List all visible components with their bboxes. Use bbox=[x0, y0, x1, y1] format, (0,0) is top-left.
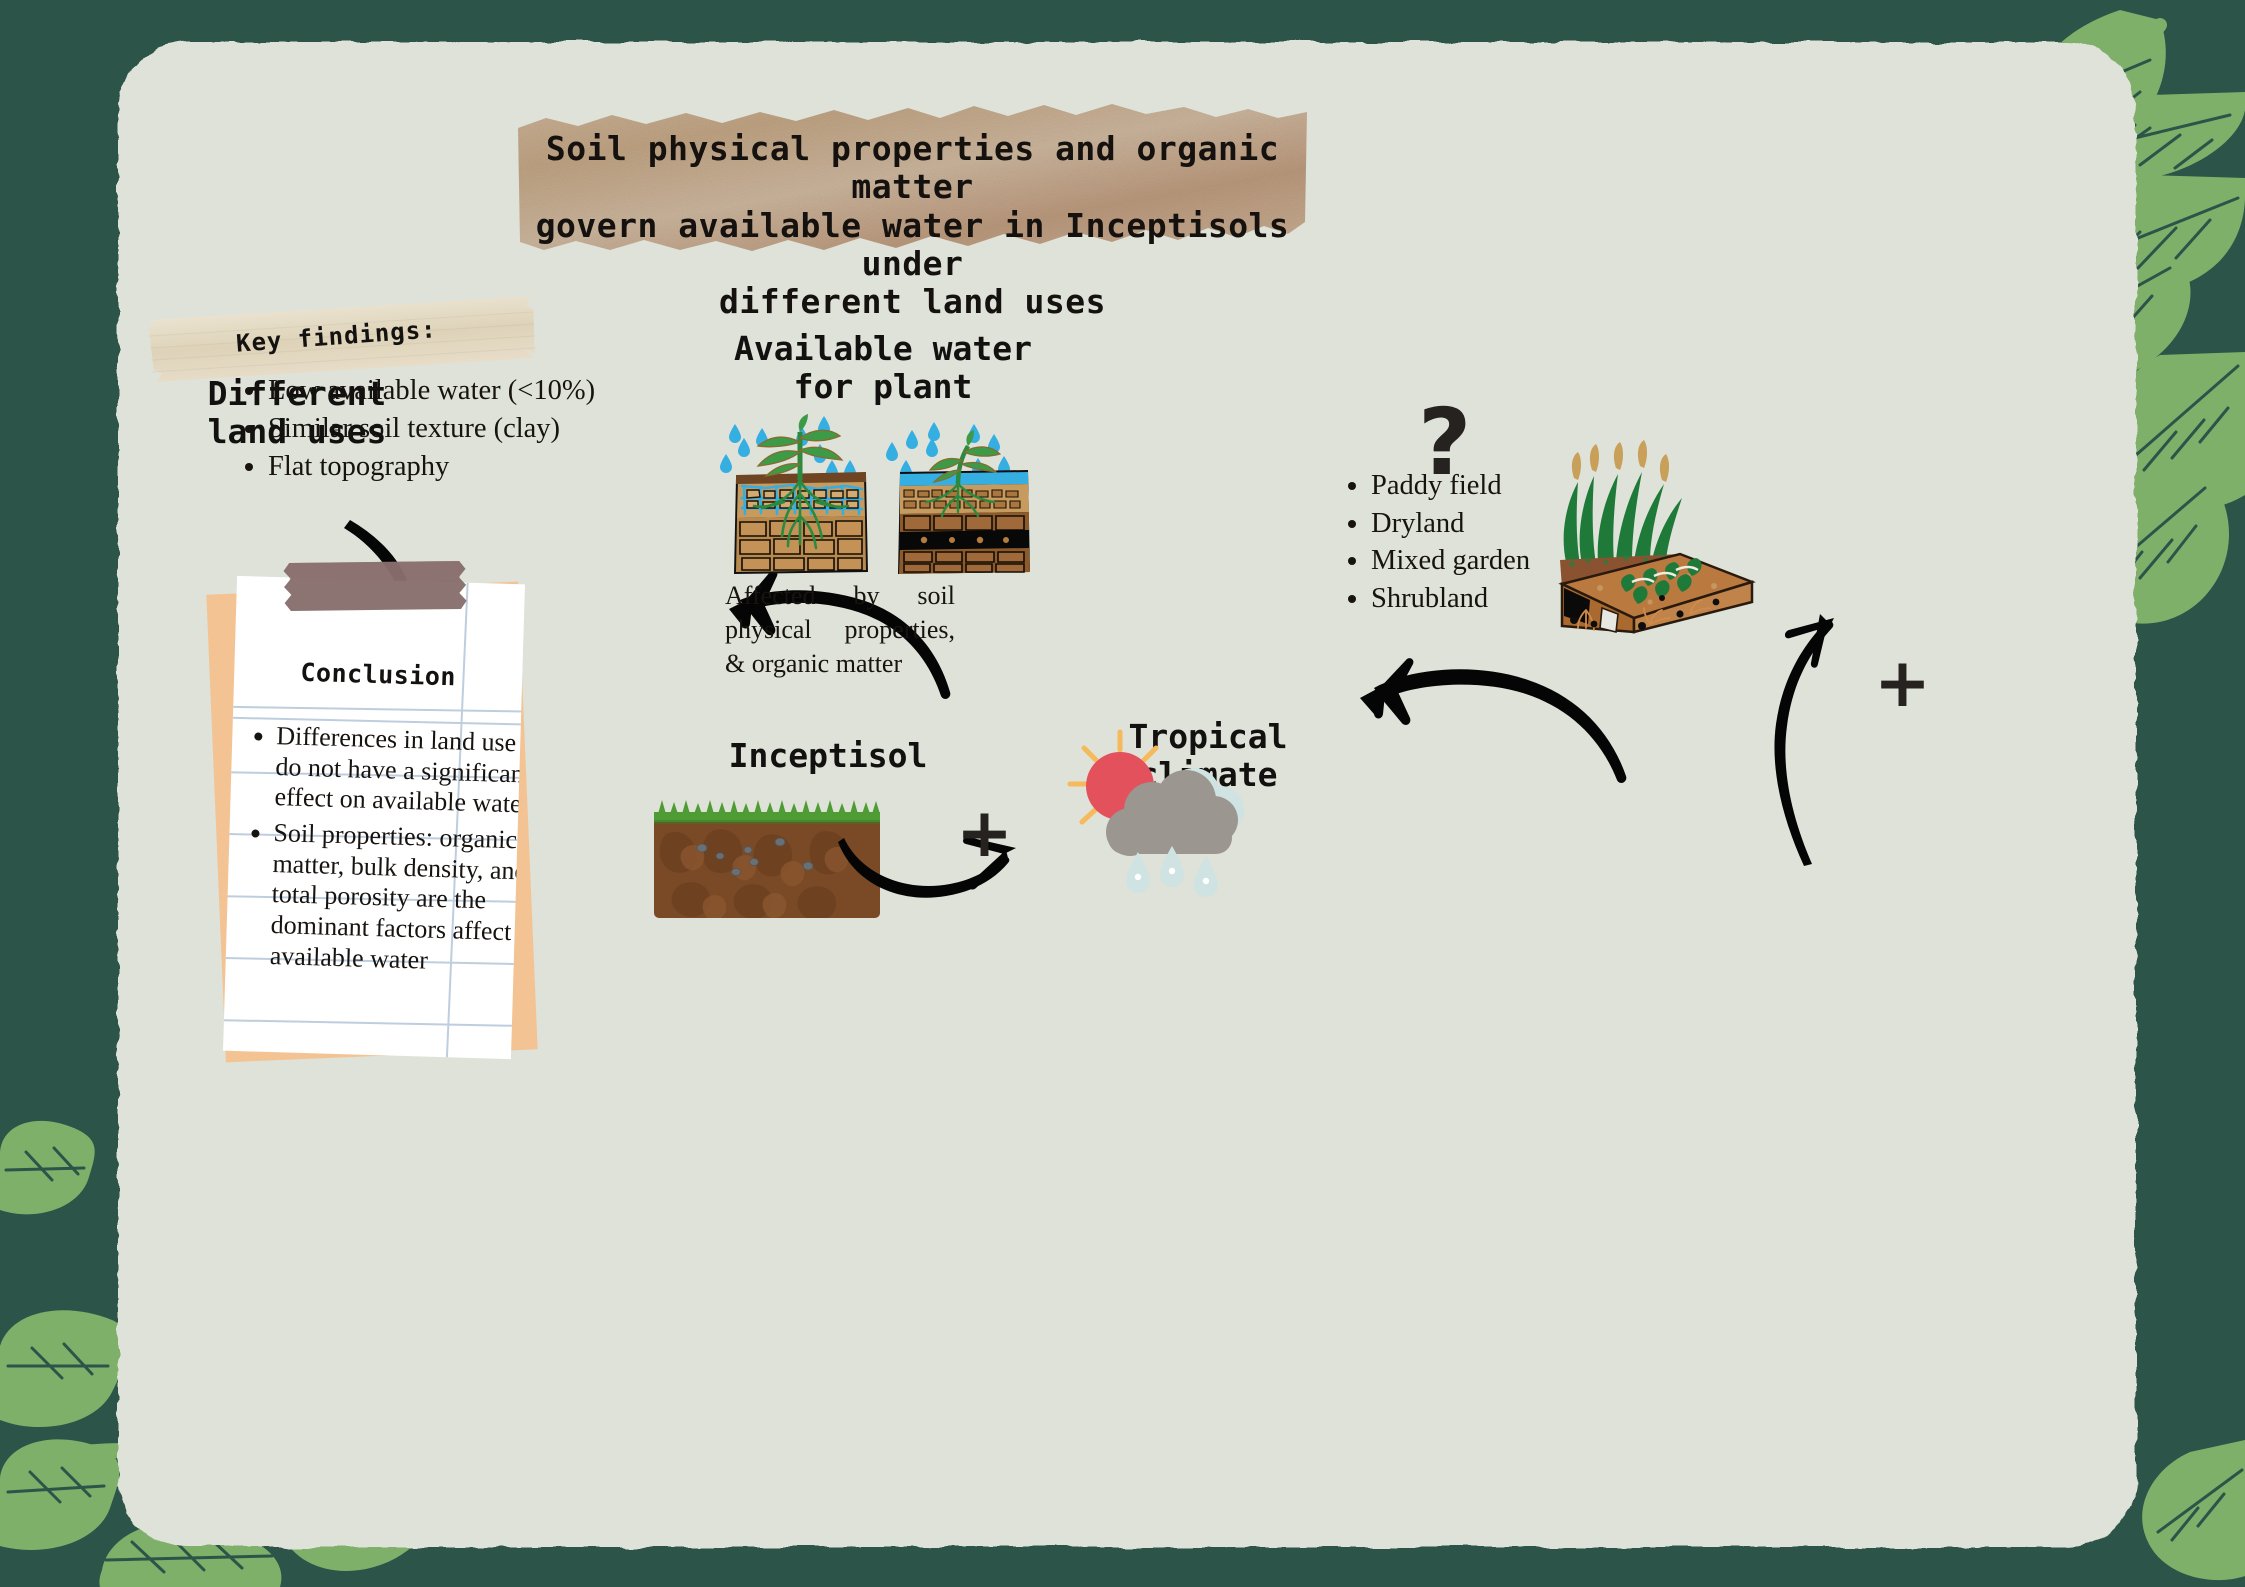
rule-line bbox=[223, 1019, 525, 1027]
list-item: Mixed garden bbox=[1371, 542, 1701, 580]
list-item: Shrubland bbox=[1371, 580, 1701, 618]
key-findings-tape: Key findings: bbox=[148, 292, 537, 386]
list-item: Differences in land use do not have a si… bbox=[274, 721, 525, 821]
inceptisol-heading: Inceptisol bbox=[648, 737, 1008, 775]
page-title: Soil physical properties and organic mat… bbox=[516, 130, 1309, 321]
available-water-illustration bbox=[714, 412, 1054, 577]
canvas-content: Soil physical properties and organic mat… bbox=[118, 42, 2136, 1547]
arrow-climate-to-land-uses bbox=[1708, 572, 1848, 872]
conclusion-washi-tape bbox=[283, 551, 467, 617]
conclusion-title: Conclusion bbox=[234, 656, 523, 694]
list-item: Paddy field bbox=[1371, 467, 1701, 505]
plus-symbol-bottom: + bbox=[956, 800, 1013, 868]
poster-stage: Soil physical properties and organic mat… bbox=[0, 0, 2245, 1587]
list-item: Dryland bbox=[1371, 505, 1701, 543]
conclusion-card: Conclusion Differences in land use do no… bbox=[223, 576, 525, 1059]
soil-profile-left bbox=[720, 414, 868, 574]
conclusion-list: Differences in land use do not have a si… bbox=[239, 720, 525, 984]
land-uses-heading: Different land uses bbox=[117, 375, 477, 452]
list-item: Soil properties: organic matter, bulk de… bbox=[269, 818, 525, 979]
plus-symbol-right: + bbox=[1874, 650, 1931, 718]
leaf-cluster-bottom-right bbox=[2142, 1440, 2245, 1580]
land-uses-list: Paddy field Dryland Mixed garden Shrubla… bbox=[1341, 467, 1701, 617]
leaf-cluster-left-mid bbox=[0, 1121, 95, 1214]
tropical-climate-illustration bbox=[1068, 722, 1268, 902]
rule-line bbox=[225, 706, 525, 713]
title-kraft-strip: Soil physical properties and organic mat… bbox=[516, 104, 1309, 252]
available-water-caption: Affected by soil physical properties, & … bbox=[725, 579, 955, 680]
available-water-heading: Available water for plant bbox=[688, 330, 1078, 407]
washi-tape-shape bbox=[283, 551, 467, 617]
conclusion-card-wrapper: Conclusion Differences in land use do no… bbox=[214, 562, 544, 1062]
soil-profile-right bbox=[886, 422, 1030, 574]
list-item: Flat topography bbox=[268, 451, 698, 483]
